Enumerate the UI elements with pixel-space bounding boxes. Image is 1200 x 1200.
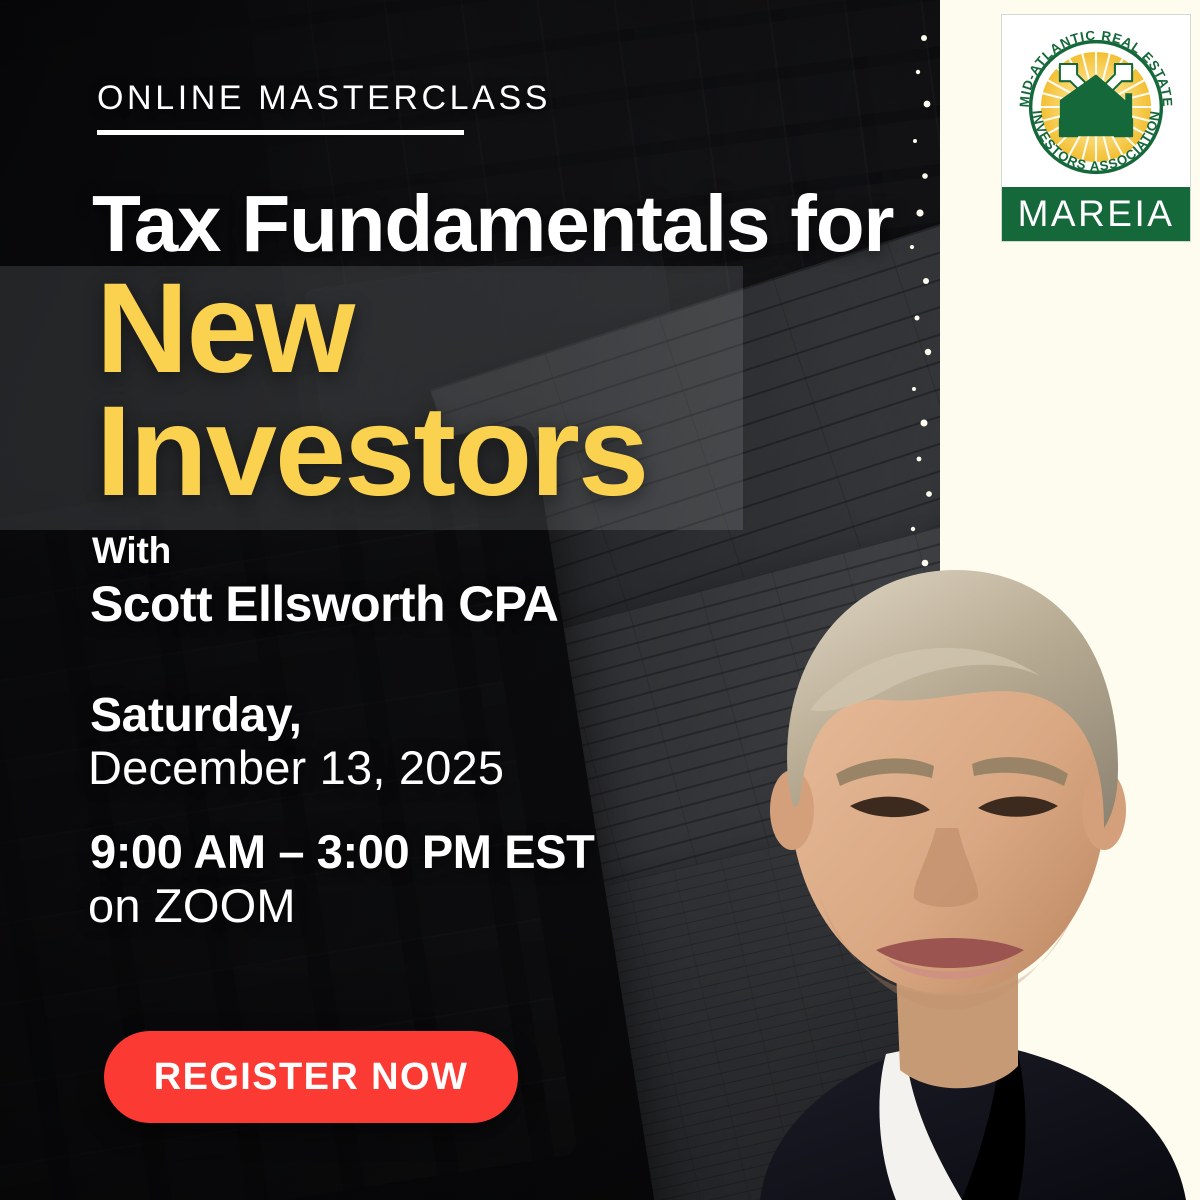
eyebrow-label: ONLINE MASTERCLASS xyxy=(97,79,551,118)
poster-content: ONLINE MASTERCLASS Tax Fundamentals for … xyxy=(0,0,1000,1200)
event-date: December 13, 2025 xyxy=(88,740,504,795)
event-platform: on ZOOM xyxy=(88,878,296,933)
register-now-button[interactable]: REGISTER NOW xyxy=(104,1031,518,1123)
register-now-label: REGISTER NOW xyxy=(154,1056,468,1099)
promo-poster: MID-ATLANTIC REAL ESTATE INVESTORS ASSOC… xyxy=(0,0,1200,1200)
eyebrow-divider xyxy=(97,130,464,135)
headline-line-3: Investors xyxy=(96,392,647,512)
logo-emblem: MID-ATLANTIC REAL ESTATE INVESTORS ASSOC… xyxy=(1010,21,1182,193)
headline-line-2: New xyxy=(96,269,353,389)
logo-wordmark-bar: MAREIA xyxy=(1002,187,1190,241)
event-day: Saturday, xyxy=(90,688,302,743)
mareia-logo: MID-ATLANTIC REAL ESTATE INVESTORS ASSOC… xyxy=(1001,14,1191,242)
logo-wordmark: MAREIA xyxy=(1018,193,1175,235)
event-time: 9:00 AM – 3:00 PM EST xyxy=(90,824,594,879)
with-label: With xyxy=(92,530,171,572)
speaker-name: Scott Ellsworth CPA xyxy=(90,575,558,633)
